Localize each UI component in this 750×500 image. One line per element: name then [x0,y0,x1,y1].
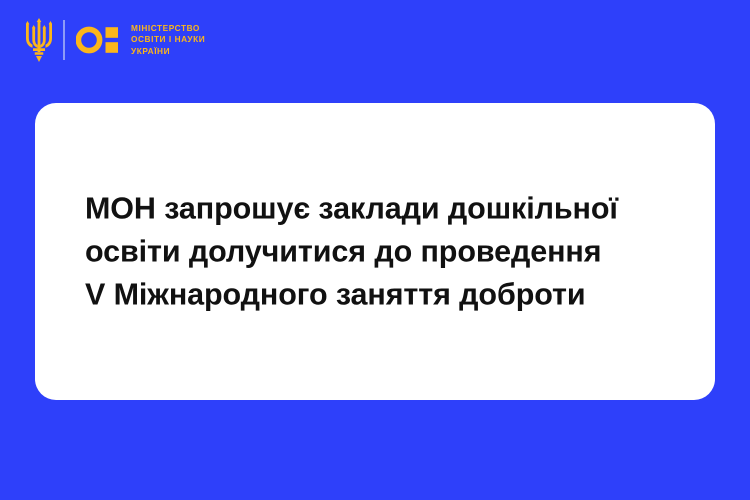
ministry-name-line-2: ОСВІТИ І НАУКИ [131,34,205,46]
ukraine-trident-emblem [26,18,52,62]
ministry-name-line-3: УКРАЇНИ [131,46,205,58]
mon-o-squares-logo [76,25,118,55]
headline: МОН запрошує заклади дошкільної освіти д… [85,187,685,316]
headline-line-1: МОН запрошує заклади дошкільної [85,187,685,230]
headline-line-2: освіти долучитися до проведення [85,230,685,273]
headline-line-3: V Міжнародного заняття доброти [85,273,685,316]
brand-divider [63,20,65,60]
ministry-name-line-1: МІНІСТЕРСТВО [131,23,205,35]
ministry-name: МІНІСТЕРСТВО ОСВІТИ І НАУКИ УКРАЇНИ [131,23,205,58]
brand-lockup: МІНІСТЕРСТВО ОСВІТИ І НАУКИ УКРАЇНИ [26,16,205,64]
announcement-card: МОН запрошує заклади дошкільної освіти д… [35,103,715,400]
announcement-canvas: МІНІСТЕРСТВО ОСВІТИ І НАУКИ УКРАЇНИ МОН … [0,0,750,500]
